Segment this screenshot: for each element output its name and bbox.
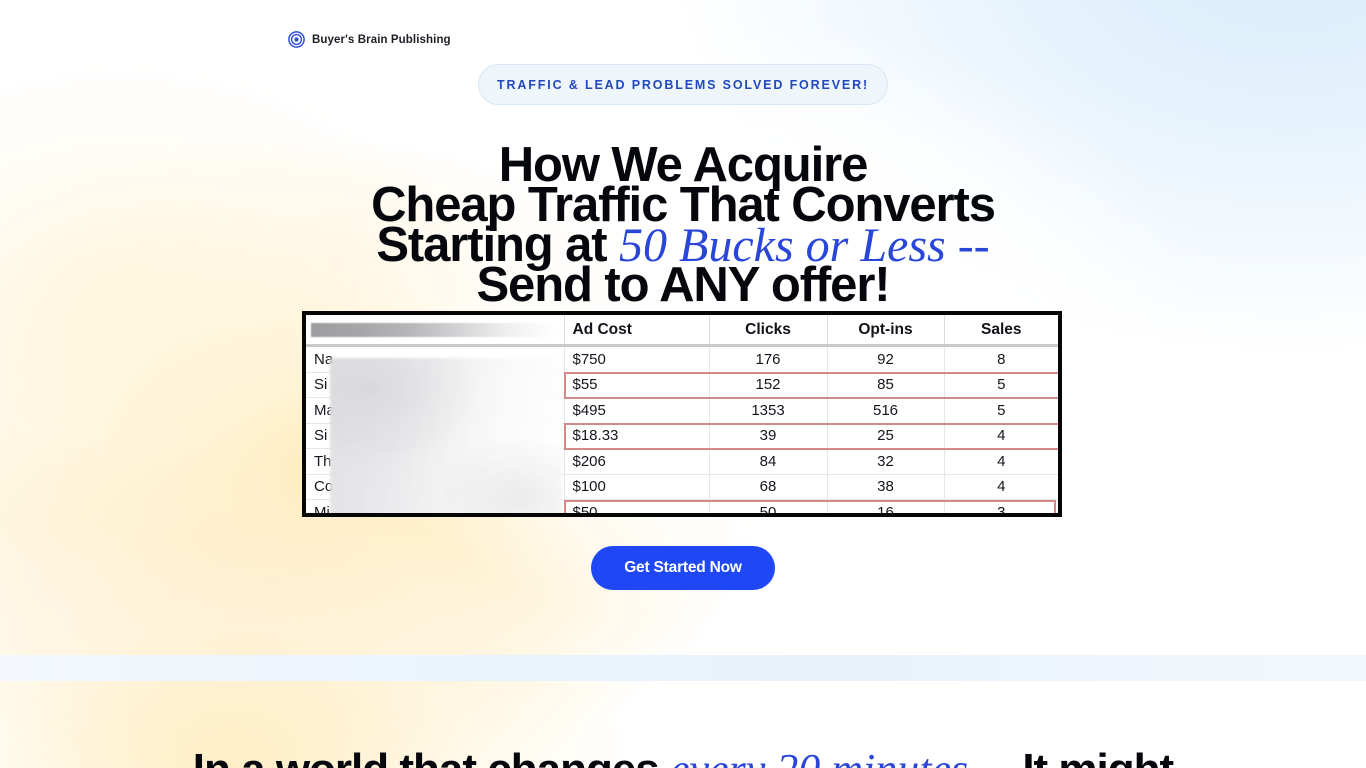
- column-header-sales: Sales: [944, 315, 1058, 346]
- eyebrow-badge-text: TRAFFIC & LEAD PROBLEMS SOLVED FOREVER!: [497, 78, 869, 92]
- cell-sales: 4: [944, 449, 1058, 475]
- table-row: Th$20684324: [306, 449, 1058, 475]
- get-started-button[interactable]: Get Started Now: [591, 546, 775, 590]
- cell-name: Si: [306, 423, 564, 449]
- cell-name: Si: [306, 372, 564, 398]
- results-table-card: Ad Cost Clicks Opt-ins Sales Na$75017692…: [302, 311, 1062, 517]
- section-2-prefix: In a world that changes: [193, 745, 670, 768]
- cell-name: Na: [306, 346, 564, 373]
- column-header-adcost: Ad Cost: [564, 315, 709, 346]
- results-table: Ad Cost Clicks Opt-ins Sales Na$75017692…: [306, 315, 1058, 517]
- table-row: Mi$5050163: [306, 500, 1058, 518]
- cell-ad-cost: $750: [564, 346, 709, 373]
- cell-clicks: 176: [709, 346, 827, 373]
- cell-sales: 8: [944, 346, 1058, 373]
- section-2-title: In a world that changes every 20 minutes…: [0, 743, 1366, 768]
- landing-page: Buyer's Brain Publishing TRAFFIC & LEAD …: [0, 0, 1366, 768]
- cell-name: Th: [306, 449, 564, 475]
- table-row: Ma$49513535165: [306, 398, 1058, 424]
- cell-optins: 92: [827, 346, 944, 373]
- brand-name: Buyer's Brain Publishing: [312, 34, 451, 46]
- cell-ad-cost: $206: [564, 449, 709, 475]
- target-bullseye-icon: [288, 31, 305, 48]
- table-row: Na$750176928: [306, 346, 1058, 373]
- cell-optins: 38: [827, 474, 944, 500]
- cell-optins: 516: [827, 398, 944, 424]
- cell-optins: 16: [827, 500, 944, 518]
- cell-ad-cost: $495: [564, 398, 709, 424]
- cell-clicks: 39: [709, 423, 827, 449]
- cell-clicks: 68: [709, 474, 827, 500]
- results-table-head: Ad Cost Clicks Opt-ins Sales: [306, 315, 1058, 346]
- cell-optins: 32: [827, 449, 944, 475]
- section-2-accent: every 20 minutes: [670, 745, 968, 768]
- cell-sales: 5: [944, 372, 1058, 398]
- cell-optins: 25: [827, 423, 944, 449]
- column-header-name: [306, 315, 564, 346]
- cell-name: Mi: [306, 500, 564, 518]
- brand-logo[interactable]: Buyer's Brain Publishing: [288, 31, 451, 48]
- section-2-suffix: … It might: [968, 745, 1173, 768]
- cell-ad-cost: $55: [564, 372, 709, 398]
- cell-clicks: 152: [709, 372, 827, 398]
- cell-sales: 4: [944, 474, 1058, 500]
- table-row: Si$18.3339254: [306, 423, 1058, 449]
- cell-name: Ma: [306, 398, 564, 424]
- cell-ad-cost: $50: [564, 500, 709, 518]
- section-divider-band: [0, 655, 1366, 681]
- cell-optins: 85: [827, 372, 944, 398]
- headline-line-4: Send to ANY offer!: [0, 265, 1366, 305]
- table-row: Co$10068384: [306, 474, 1058, 500]
- eyebrow-badge: TRAFFIC & LEAD PROBLEMS SOLVED FOREVER!: [478, 64, 888, 105]
- cell-sales: 4: [944, 423, 1058, 449]
- cell-clicks: 84: [709, 449, 827, 475]
- results-table-body: Na$750176928Si$55152855Ma$49513535165Si$…: [306, 346, 1058, 518]
- cell-clicks: 1353: [709, 398, 827, 424]
- cell-ad-cost: $100: [564, 474, 709, 500]
- cell-sales: 3: [944, 500, 1058, 518]
- table-row: Si$55152855: [306, 372, 1058, 398]
- cell-sales: 5: [944, 398, 1058, 424]
- cell-name: Co: [306, 474, 564, 500]
- results-table-header-row: Ad Cost Clicks Opt-ins Sales: [306, 315, 1058, 346]
- column-header-optins: Opt-ins: [827, 315, 944, 346]
- cell-clicks: 50: [709, 500, 827, 518]
- page-title: How We Acquire Cheap Traffic That Conver…: [0, 145, 1366, 305]
- column-header-clicks: Clicks: [709, 315, 827, 346]
- cell-ad-cost: $18.33: [564, 423, 709, 449]
